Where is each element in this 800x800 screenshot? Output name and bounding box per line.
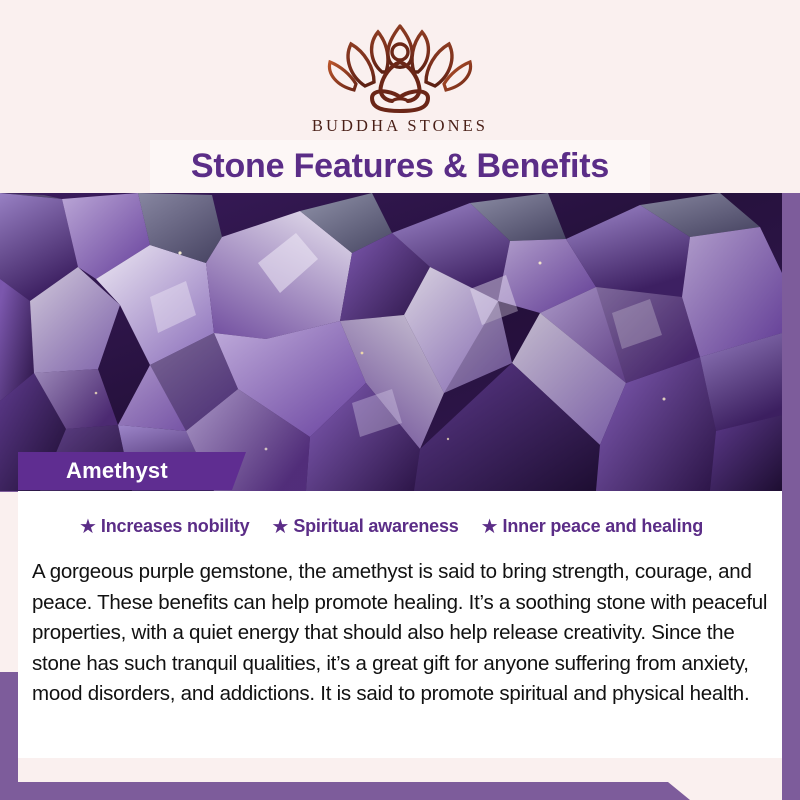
benefit-item: ★ Spiritual awareness — [271, 516, 458, 537]
amethyst-photo — [0, 193, 782, 491]
benefit-label: Increases nobility — [101, 516, 249, 537]
star-icon: ★ — [79, 517, 97, 537]
star-icon: ★ — [271, 517, 289, 537]
benefit-label: Spiritual awareness — [293, 516, 458, 537]
star-icon: ★ — [481, 517, 499, 537]
brand-name: BUDDHA STONES — [0, 116, 800, 136]
stone-description: A gorgeous purple gemstone, the amethyst… — [32, 557, 774, 710]
lotus-meditation-figure-icon — [310, 18, 490, 114]
amethyst-geode-photo — [0, 193, 782, 491]
benefit-item: ★ Inner peace and healing — [481, 516, 703, 537]
stone-name: Amethyst — [66, 452, 168, 490]
frame-left-bar — [0, 672, 18, 800]
frame-bottom-bar — [0, 782, 800, 800]
page-title: Stone Features & Benefits — [0, 140, 800, 193]
infographic-poster: BUDDHA STONES Stone Features & Benefits — [0, 0, 800, 800]
benefit-item: ★ Increases nobility — [79, 516, 249, 537]
brand-logo: BUDDHA STONES — [0, 18, 800, 136]
benefits-list: ★ Increases nobility ★ Spiritual awarene… — [0, 516, 782, 537]
benefit-label: Inner peace and healing — [503, 516, 703, 537]
